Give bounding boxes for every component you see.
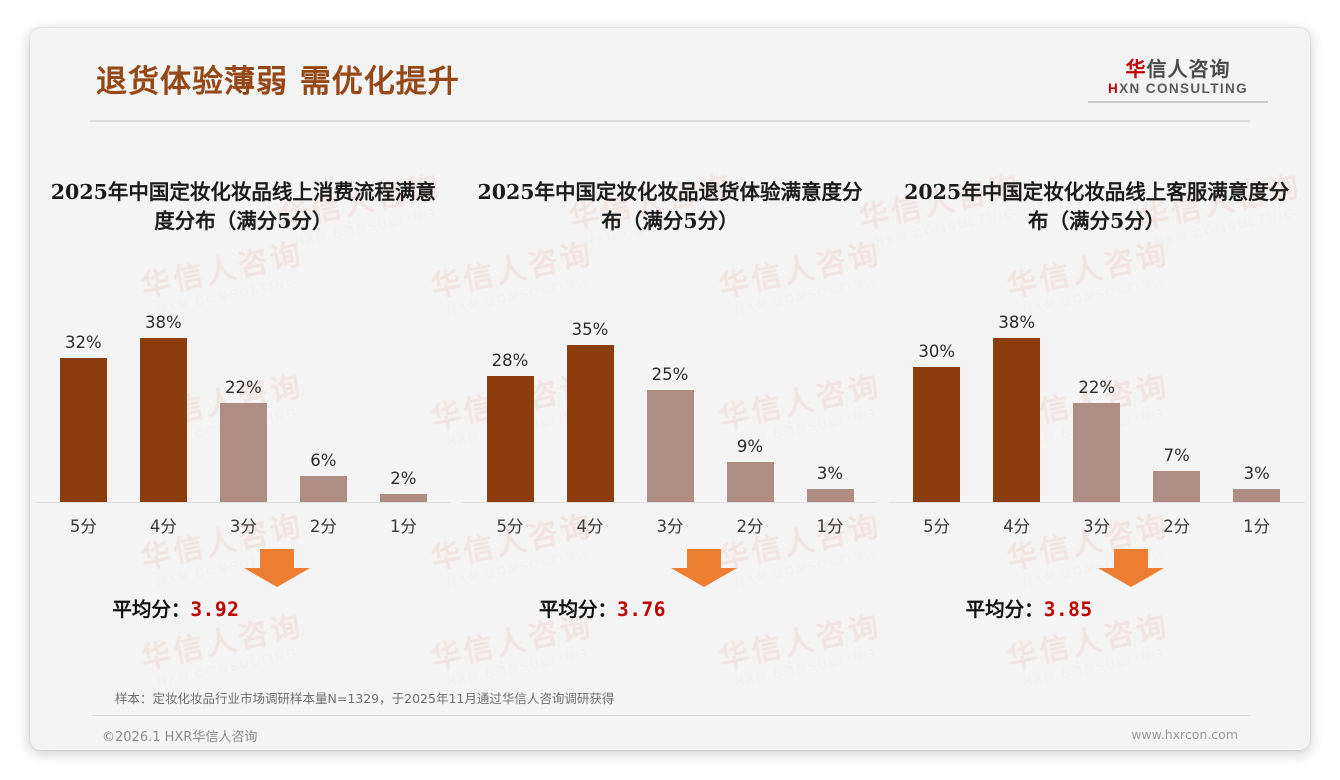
x-axis-ticks: 5分4分3分2分1分 <box>897 505 1297 535</box>
bar[interactable] <box>60 358 107 503</box>
arrow-head <box>1098 568 1164 587</box>
bar-slot: 22% <box>203 313 283 503</box>
x-tick-label: 4分 <box>977 505 1057 535</box>
bar[interactable] <box>140 338 187 503</box>
chart-title-3: 2025年中国定妆化妆品线上客服满意度分布（满分5分） <box>883 178 1310 236</box>
bar-slot: 22% <box>1057 313 1137 503</box>
bar[interactable] <box>727 462 774 503</box>
x-axis-line <box>35 502 451 503</box>
bar[interactable] <box>220 403 267 503</box>
average-score-label: 平均分： <box>966 598 1044 621</box>
bar[interactable] <box>1153 471 1200 503</box>
arrow-stem <box>1114 549 1148 568</box>
footer-divider <box>92 715 1250 716</box>
average-score-block-1: 平均分：3.92 <box>78 543 408 633</box>
bar[interactable] <box>913 367 960 503</box>
bar-value-label: 35% <box>572 320 609 339</box>
logo-en-rest: XN CONSULTING <box>1119 81 1248 96</box>
plot-area-1: 32%38%22%6%2%5分4分3分2分1分 <box>43 290 443 535</box>
down-arrow-icon <box>671 549 737 587</box>
chart-panel-3: 2025年中国定妆化妆品线上客服满意度分布（满分5分）30%38%22%7%3%… <box>883 148 1310 668</box>
average-score-label: 平均分： <box>112 598 190 621</box>
bar-value-label: 32% <box>65 333 102 352</box>
bar-value-label: 25% <box>652 365 689 384</box>
logo-english-name: HXN CONSULTING <box>1088 80 1268 98</box>
bar-group-3: 30%38%22%7%3% <box>897 313 1297 503</box>
bar-slot: 35% <box>550 313 630 503</box>
x-tick-label: 4分 <box>123 505 203 535</box>
footer-website[interactable]: www.hxrcon.com <box>1131 727 1238 742</box>
bar[interactable] <box>993 338 1040 503</box>
slide-canvas: 华信人咨询HXN CONSULTING华信人咨询HXN CONSULTING华信… <box>30 28 1310 750</box>
header-divider <box>90 120 1250 122</box>
bar[interactable] <box>1073 403 1120 503</box>
average-score-block-2: 平均分：3.76 <box>505 543 835 633</box>
x-axis-line <box>462 502 878 503</box>
x-tick-label: 1分 <box>363 505 443 535</box>
bar-value-label: 3% <box>1244 464 1270 483</box>
bar-value-label: 22% <box>1078 378 1115 397</box>
bar-slot: 3% <box>790 313 870 503</box>
arrow-head <box>671 568 737 587</box>
bar-group-2: 28%35%25%9%3% <box>470 313 870 503</box>
bar[interactable] <box>807 489 854 503</box>
page-title: 退货体验薄弱 需优化提升 <box>96 56 460 101</box>
source-note: 样本：定妆化妆品行业市场调研样本量N=1329，于2025年11月通过华信人咨询… <box>115 688 614 707</box>
average-score-text: 平均分：3.85 <box>966 593 1093 622</box>
x-tick-label: 5分 <box>897 505 977 535</box>
x-tick-label: 3分 <box>1057 505 1137 535</box>
down-arrow-icon <box>244 549 310 587</box>
average-score-value: 3.85 <box>1044 598 1093 621</box>
arrow-stem <box>687 549 721 568</box>
logo-accent-char: 华 <box>1126 57 1147 81</box>
x-tick-label: 4分 <box>550 505 630 535</box>
plot-area-2: 28%35%25%9%3%5分4分3分2分1分 <box>470 290 870 535</box>
bar[interactable] <box>300 476 347 503</box>
average-score-value: 3.92 <box>190 598 239 621</box>
bar-value-label: 6% <box>310 451 336 470</box>
slide-header: 退货体验薄弱 需优化提升 华信人咨询 HXN CONSULTING <box>30 28 1310 120</box>
x-axis-ticks: 5分4分3分2分1分 <box>470 505 870 535</box>
bar[interactable] <box>567 345 614 503</box>
bar-value-label: 7% <box>1164 446 1190 465</box>
x-tick-label: 3分 <box>630 505 710 535</box>
bar-slot: 25% <box>630 313 710 503</box>
chart-title-1: 2025年中国定妆化妆品线上消费流程满意度分布（满分5分） <box>30 178 457 236</box>
logo-name-rest: 信人咨询 <box>1147 57 1231 81</box>
bar-value-label: 38% <box>145 313 182 332</box>
bar-value-label: 38% <box>998 313 1035 332</box>
bar-slot: 32% <box>43 313 123 503</box>
x-tick-label: 2分 <box>710 505 790 535</box>
x-tick-label: 5分 <box>470 505 550 535</box>
footer-copyright: ©2026.1 HXR华信人咨询 <box>102 726 257 745</box>
bar[interactable] <box>487 376 534 503</box>
charts-row: 2025年中国定妆化妆品线上消费流程满意度分布（满分5分）32%38%22%6%… <box>30 148 1310 668</box>
average-score-text: 平均分：3.92 <box>112 593 239 622</box>
logo-underline <box>1088 101 1268 103</box>
x-tick-label: 5分 <box>43 505 123 535</box>
arrow-head <box>244 568 310 587</box>
bar-slot: 2% <box>363 313 443 503</box>
x-axis-line <box>889 502 1305 503</box>
bar-slot: 3% <box>1217 313 1297 503</box>
down-arrow-icon <box>1098 549 1164 587</box>
plot-area-3: 30%38%22%7%3%5分4分3分2分1分 <box>897 290 1297 535</box>
x-tick-label: 3分 <box>203 505 283 535</box>
chart-panel-2: 2025年中国定妆化妆品退货体验满意度分布（满分5分）28%35%25%9%3%… <box>457 148 884 668</box>
bar[interactable] <box>647 390 694 503</box>
bar-slot: 6% <box>283 313 363 503</box>
x-axis-ticks: 5分4分3分2分1分 <box>43 505 443 535</box>
bar-group-1: 32%38%22%6%2% <box>43 313 443 503</box>
bar-slot: 38% <box>123 313 203 503</box>
average-score-text: 平均分：3.76 <box>539 593 666 622</box>
bar-value-label: 30% <box>918 342 955 361</box>
x-tick-label: 2分 <box>1137 505 1217 535</box>
bar-slot: 9% <box>710 313 790 503</box>
x-tick-label: 1分 <box>790 505 870 535</box>
bar-value-label: 9% <box>737 437 763 456</box>
logo-chinese-name: 华信人咨询 <box>1088 58 1268 80</box>
company-logo: 华信人咨询 HXN CONSULTING <box>1088 58 1268 103</box>
average-score-block-3: 平均分：3.85 <box>932 543 1262 633</box>
bar[interactable] <box>1233 489 1280 503</box>
arrow-stem <box>260 549 294 568</box>
bar-value-label: 3% <box>817 464 843 483</box>
bar-slot: 28% <box>470 313 550 503</box>
bar-value-label: 22% <box>225 378 262 397</box>
chart-panel-1: 2025年中国定妆化妆品线上消费流程满意度分布（满分5分）32%38%22%6%… <box>30 148 457 668</box>
bar-value-label: 28% <box>492 351 529 370</box>
bar-slot: 7% <box>1137 313 1217 503</box>
bar-value-label: 2% <box>390 469 416 488</box>
chart-title-2: 2025年中国定妆化妆品退货体验满意度分布（满分5分） <box>457 178 884 236</box>
logo-en-accent-char: H <box>1108 81 1119 96</box>
average-score-label: 平均分： <box>539 598 617 621</box>
average-score-value: 3.76 <box>617 598 666 621</box>
bar-slot: 38% <box>977 313 1057 503</box>
x-tick-label: 2分 <box>283 505 363 535</box>
x-tick-label: 1分 <box>1217 505 1297 535</box>
bar-slot: 30% <box>897 313 977 503</box>
